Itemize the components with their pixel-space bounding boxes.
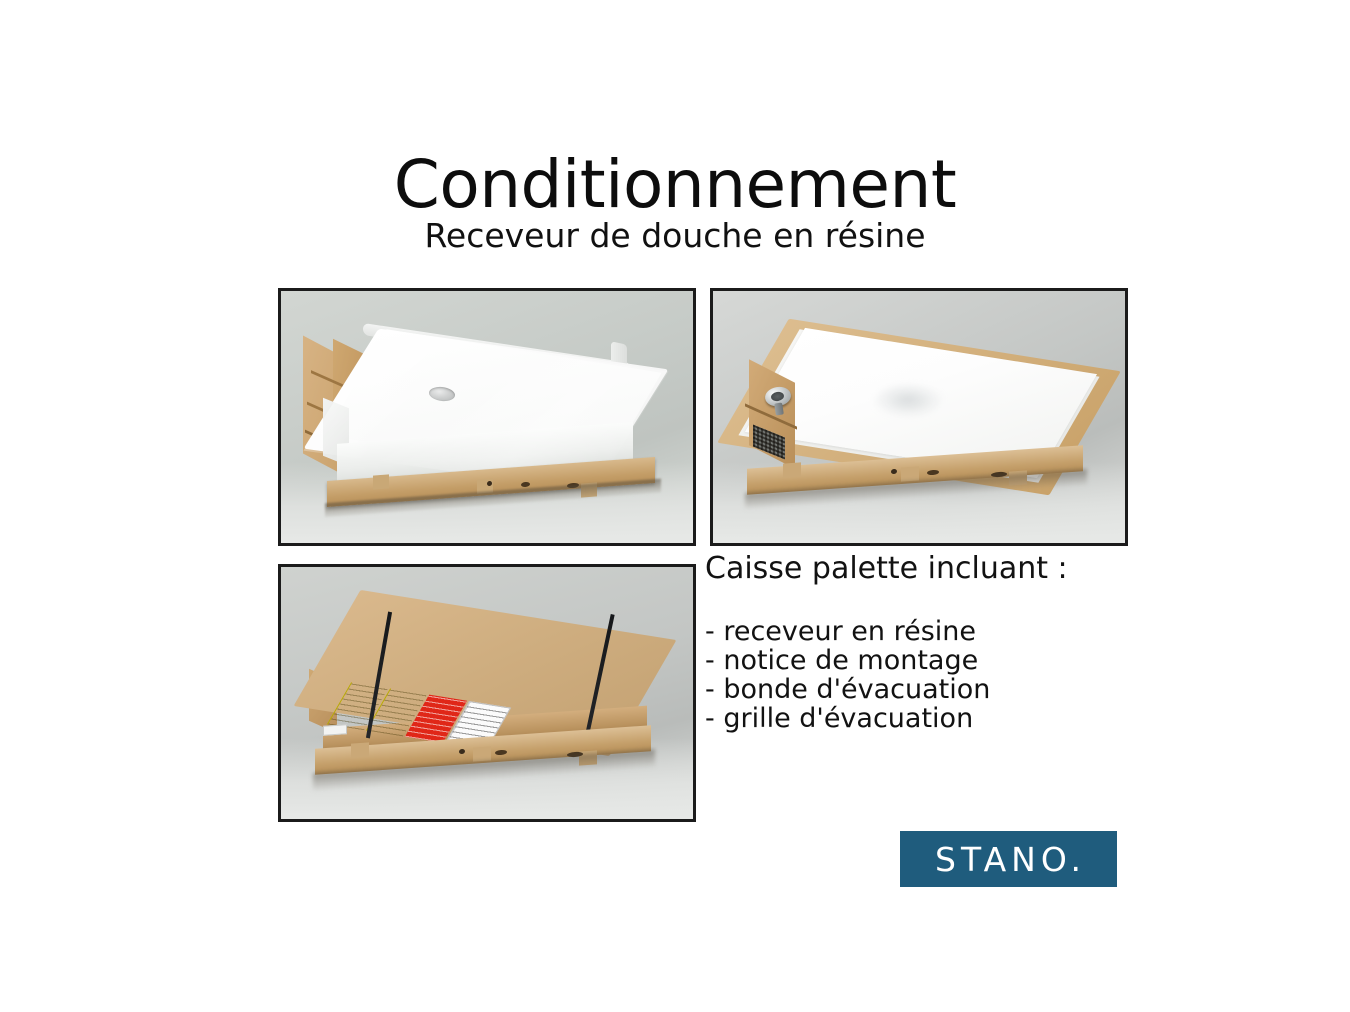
drain-fitting-stem [774,402,784,415]
package-contents-heading: Caisse palette incluant : [705,551,1125,587]
pallet-foot [901,466,919,481]
pallet-foot [373,474,389,489]
pallet-foot [473,746,491,761]
pallet-foot [783,462,801,477]
stano-logo: STANO. [900,831,1117,887]
page-title: Conditionnement [0,152,1350,218]
barcode-tag [323,724,347,736]
photo-backdrop [281,567,693,819]
list-item: - receveur en résine [705,617,1125,646]
photo-crate-closed-with-labels [278,564,696,822]
photo-shower-tray-packed [278,288,696,546]
package-contents-list: - receveur en résine - notice de montage… [705,617,1125,734]
pallet-foot [351,742,369,757]
list-item: - grille d'évacuation [705,704,1125,733]
page-subtitle: Receveur de douche en résine [0,217,1350,255]
list-item: - bonde d'évacuation [705,675,1125,704]
stano-logo-text: STANO. [931,843,1086,876]
photo-backdrop [281,291,693,543]
photo-backdrop [713,291,1125,543]
list-item: - notice de montage [705,646,1125,675]
photo-crate-with-drain-kit [710,288,1128,546]
package-contents-block: Caisse palette incluant : - receveur en … [705,551,1125,734]
